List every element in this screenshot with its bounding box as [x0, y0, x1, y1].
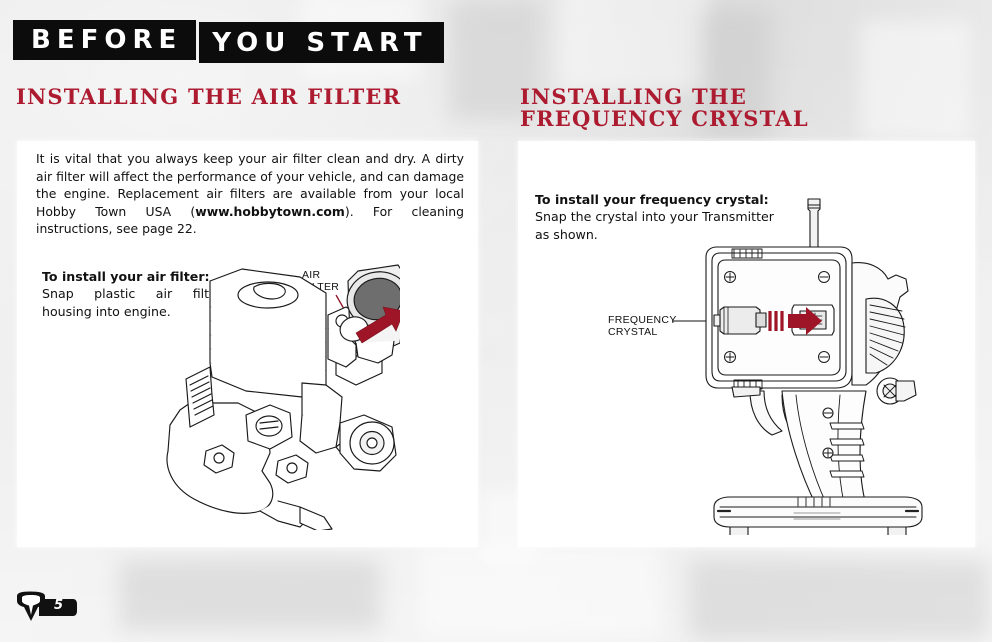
page-number-text: 5: [54, 598, 63, 613]
background-texture-blob: [860, 20, 970, 140]
banner-word-you-start: YOU START: [199, 22, 443, 63]
background-texture-blob: [120, 560, 380, 630]
section-heading-frequency-crystal: INSTALLING THE FREQUENCY CRYSTAL: [520, 86, 809, 130]
callout-label-frequency-crystal: FREQUENCY CRYSTAL: [608, 314, 677, 338]
hobbytown-url: www.hobbytown.com: [195, 204, 345, 219]
background-texture-blob: [420, 545, 660, 635]
page-banner: BEFORE YOU START: [13, 17, 444, 65]
transmitter-illustration: [690, 195, 980, 535]
page-badge-shape: [13, 591, 77, 622]
air-filter-intro-paragraph: It is vital that you always keep your ai…: [36, 150, 464, 238]
engine-illustration: [150, 255, 400, 530]
background-texture-blob: [560, 0, 710, 90]
background-texture-blob: [690, 560, 990, 640]
page-number-badge: 5: [13, 591, 77, 622]
banner-word-before: BEFORE: [13, 20, 196, 60]
section-heading-air-filter: INSTALLING THE AIR FILTER: [16, 86, 401, 108]
